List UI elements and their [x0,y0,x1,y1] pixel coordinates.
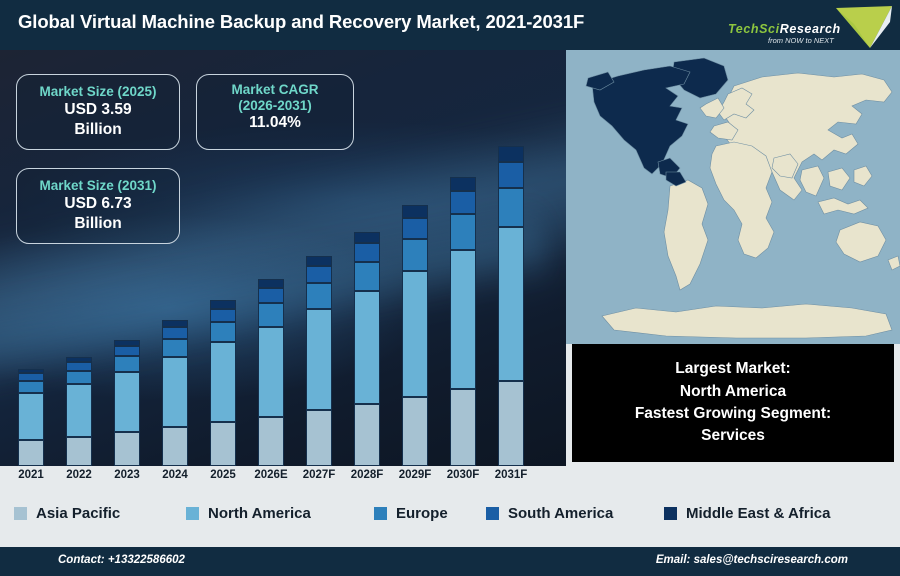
bar-segment-south-america [402,218,428,239]
bar-segment-asia-pacific [354,404,380,466]
bar-segment-asia-pacific [258,417,284,466]
x-tick-2022: 2022 [56,469,102,481]
legend-swatch-icon [186,507,199,520]
bar-segment-north-america [162,357,188,428]
logo-brand-second: Research [780,22,841,36]
bar-segment-south-america [114,346,140,356]
bar-2022 [66,357,92,466]
stacked-bar-plot [0,50,566,466]
bar-2029f [402,205,428,466]
bar-segment-asia-pacific [114,432,140,466]
bar-segment-north-america [114,372,140,432]
bar-segment-north-america [66,384,92,437]
bar-2024 [162,320,188,466]
callout-largest-market-label: Largest Market: [675,358,790,380]
bar-segment-middle-east-africa [258,279,284,288]
logo-wordmark: TechSciResearch [728,22,841,36]
bar-segment-europe [306,283,332,309]
legend-swatch-icon [486,507,499,520]
x-tick-2029f: 2029F [392,469,438,481]
bar-segment-south-america [306,266,332,283]
legend-item-asia-pacific[interactable]: Asia Pacific [14,505,120,522]
x-tick-2021: 2021 [8,469,54,481]
footer-bar: Contact: +13322586602 Email: sales@techs… [0,547,900,576]
market-callout-box: Largest Market: North America Fastest Gr… [572,344,894,462]
bar-segment-europe [402,239,428,271]
legend-item-south-america[interactable]: South America [486,505,613,522]
bar-segment-south-america [450,191,476,215]
bar-segment-north-america [210,342,236,422]
bar-segment-asia-pacific [450,389,476,466]
legend-label: Middle East & Africa [686,505,830,522]
footer-contact: Contact: +13322586602 [58,554,185,566]
bar-segment-middle-east-africa [354,232,380,244]
chart-panel: Market Size (2025) USD 3.59 Billion Mark… [0,50,566,466]
bar-2028f [354,232,380,466]
bar-2021 [18,369,44,466]
bar-segment-asia-pacific [402,397,428,466]
bar-2026e [258,279,284,466]
bar-segment-middle-east-africa [210,300,236,308]
chart-legend: Asia PacificNorth AmericaEuropeSouth Ame… [0,492,900,534]
footer-email: Email: sales@techsciresearch.com [656,554,848,566]
bar-segment-north-america [306,309,332,410]
x-tick-2028f: 2028F [344,469,390,481]
logo-tagline: from NOW to NEXT [768,36,834,45]
legend-item-north-america[interactable]: North America [186,505,311,522]
callout-fastest-segment-value: Services [701,425,765,447]
bar-segment-north-america [18,393,44,440]
bar-segment-europe [258,303,284,326]
legend-label: South America [508,505,613,522]
bar-segment-asia-pacific [162,427,188,466]
x-tick-2030f: 2030F [440,469,486,481]
bar-segment-south-america [162,327,188,339]
bar-segment-middle-east-africa [450,177,476,191]
bar-segment-europe [114,356,140,372]
bar-segment-asia-pacific [306,410,332,466]
bar-2027f [306,256,332,466]
page-title: Global Virtual Machine Backup and Recove… [18,11,584,33]
x-tick-2025: 2025 [200,469,246,481]
x-tick-2023: 2023 [104,469,150,481]
bar-segment-asia-pacific [498,381,524,466]
bar-segment-south-america [258,288,284,303]
legend-label: North America [208,505,311,522]
bar-segment-middle-east-africa [498,146,524,162]
bar-segment-europe [450,214,476,250]
bar-segment-asia-pacific [18,440,44,466]
bar-segment-middle-east-africa [306,256,332,266]
bar-segment-north-america [354,291,380,404]
legend-label: Asia Pacific [36,505,120,522]
bar-2030f [450,177,476,466]
bar-segment-north-america [258,327,284,417]
bar-2023 [114,340,140,466]
bar-segment-europe [66,371,92,384]
world-map-svg [566,50,900,344]
logo-brand-first: TechSci [728,22,780,36]
x-tick-2024: 2024 [152,469,198,481]
bar-segment-middle-east-africa [402,205,428,218]
logo-arrow-icon [834,4,894,50]
callout-fastest-segment-label: Fastest Growing Segment: [635,403,831,425]
bar-segment-north-america [498,227,524,381]
world-map [566,50,900,344]
bar-segment-south-america [66,362,92,371]
bar-segment-europe [210,322,236,342]
x-axis: 202120222023202420252026E2027F2028F2029F… [0,466,566,492]
x-tick-2031f: 2031F [488,469,534,481]
legend-swatch-icon [374,507,387,520]
bar-segment-europe [162,339,188,357]
bar-segment-europe [498,188,524,227]
legend-item-middle-east-africa[interactable]: Middle East & Africa [664,505,830,522]
bar-segment-asia-pacific [210,422,236,466]
legend-item-europe[interactable]: Europe [374,505,448,522]
bar-segment-asia-pacific [66,437,92,466]
bar-segment-europe [18,381,44,393]
infographic-page: Global Virtual Machine Backup and Recove… [0,0,900,576]
callout-largest-market-value: North America [680,381,786,403]
legend-swatch-icon [664,507,677,520]
bar-2025 [210,300,236,466]
bar-2031f [498,146,524,466]
header-bar: Global Virtual Machine Backup and Recove… [0,0,900,50]
bar-segment-north-america [402,271,428,397]
bar-segment-north-america [450,250,476,389]
bar-segment-south-america [18,373,44,381]
x-tick-2026e: 2026E [248,469,294,481]
legend-label: Europe [396,505,448,522]
bar-segment-south-america [354,243,380,262]
bar-segment-south-america [498,162,524,188]
legend-swatch-icon [14,507,27,520]
bar-segment-europe [354,262,380,291]
x-tick-2027f: 2027F [296,469,342,481]
techsci-research-logo: TechSciResearch from NOW to NEXT [724,2,894,48]
bar-segment-south-america [210,309,236,322]
